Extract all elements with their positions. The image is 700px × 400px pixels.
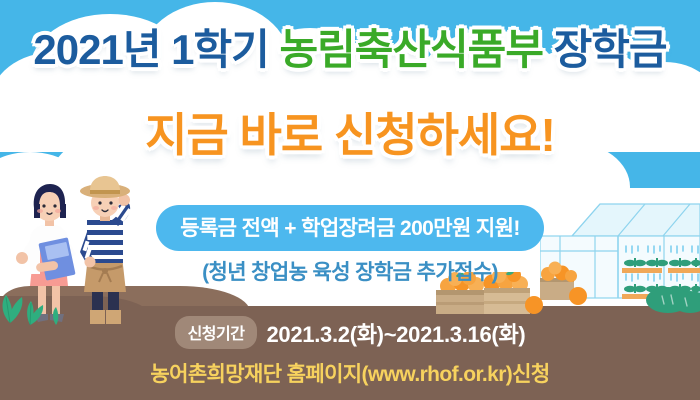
headline-line-2: 지금 바로 신청하세요! [0,106,700,164]
benefit-pill: 등록금 전액 + 학업장려금 200만원 지원! [156,205,544,251]
subnote-row: (청년 창업농 육성 장학금 추가접수) [0,256,700,286]
benefit-pill-row: 등록금 전액 + 학업장려금 200만원 지원! [0,205,700,251]
headline-cta: 지금 바로 신청하세요! [0,106,700,164]
headline-line-1: 2021년 1학기 농림축산식품부 장학금 [0,24,700,76]
application-period-row: 신청기간2021.3.2(화)~2021.3.16(화) [0,316,700,349]
application-site-row: 농어촌희망재단 홈페이지(www.rhof.or.kr)신청 [0,358,700,388]
application-period-badge: 신청기간 [175,316,258,349]
headline-scholarship: 장학금 [554,26,667,73]
benefit-subnote: (청년 창업농 육성 장학금 추가접수) [202,261,498,284]
headline-line-1-inner: 2021년 1학기 농림축산식품부 장학금 [0,24,700,76]
headline-semester: 2021년 1학기 [33,26,268,73]
headline-ministry: 농림축산식품부 [279,26,542,73]
promo-banner: 2021년 1학기 농림축산식품부 장학금 지금 바로 신청하세요! 등록금 전… [0,0,700,400]
application-site-text[interactable]: 농어촌희망재단 홈페이지(www.rhof.or.kr)신청 [150,363,549,386]
application-period-value: 2021.3.2(화)~2021.3.16(화) [266,317,525,349]
